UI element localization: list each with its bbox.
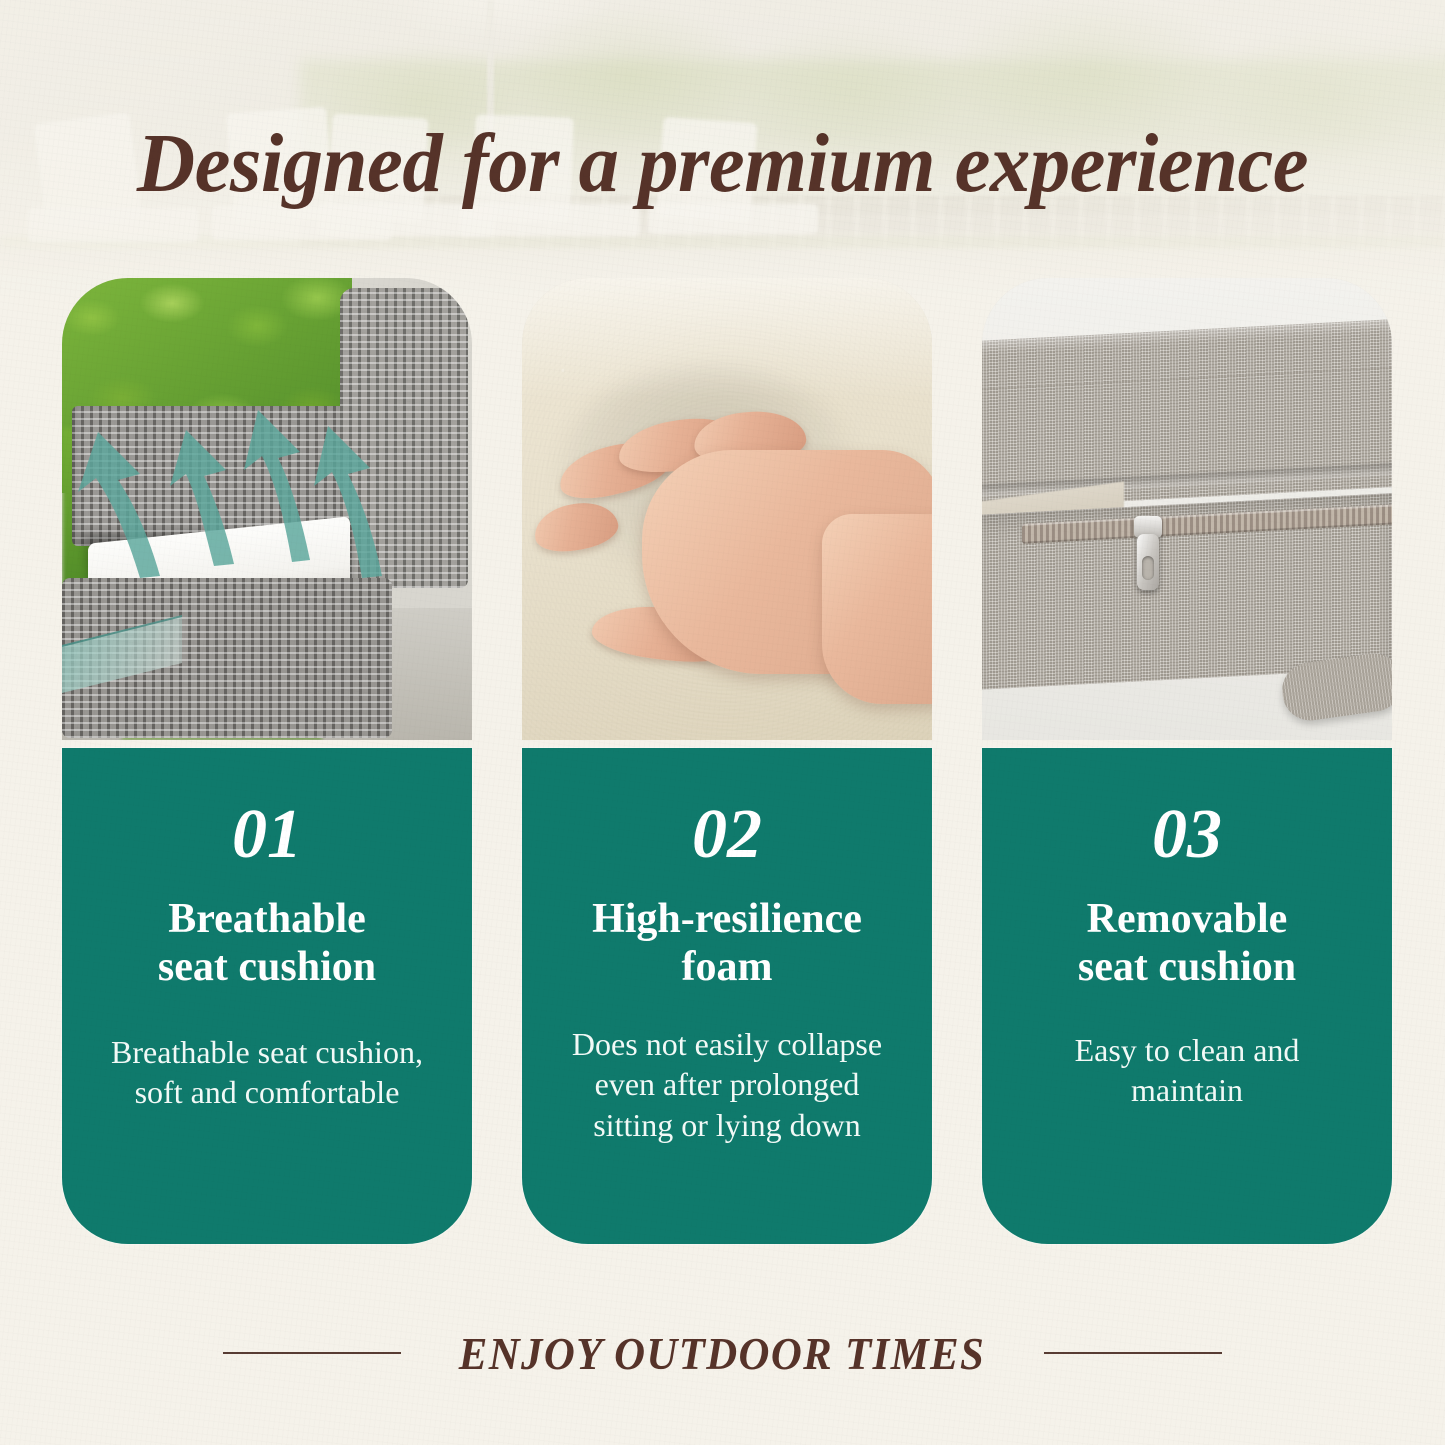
page-headline: Designed for a premium experience	[29, 115, 1416, 212]
feature-number-02: 02	[522, 800, 932, 870]
footer-rule-left	[223, 1352, 401, 1354]
photo-breathable-cushion	[62, 278, 472, 740]
feature-panel-03: 03 Removable seat cushion Easy to clean …	[982, 748, 1392, 1244]
wrist	[822, 514, 932, 704]
feature-number-03: 03	[982, 800, 1392, 870]
feature-description-02: Does not easily collapse even after prol…	[522, 1024, 932, 1145]
feature-title-01: Breathable seat cushion	[62, 896, 472, 992]
feature-card-02: 02 High-resilience foam Does not easily …	[522, 278, 932, 1244]
product-infographic-poster: Designed for a premium experience	[0, 0, 1445, 1445]
feature-title-02: High-resilience foam	[522, 896, 932, 992]
footer-tagline: ENJOY OUTDOOR TIMES	[0, 1318, 1445, 1388]
airflow-arrows-icon	[62, 278, 472, 740]
feature-card-03: 03 Removable seat cushion Easy to clean …	[982, 278, 1392, 1244]
feature-number-01: 01	[62, 800, 472, 870]
feature-panel-02: 02 High-resilience foam Does not easily …	[522, 748, 932, 1244]
feature-description-01: Breathable seat cushion, soft and comfor…	[62, 1032, 472, 1113]
feature-title-03: Removable seat cushion	[982, 896, 1392, 992]
zipper-tab-hole	[1142, 556, 1154, 580]
feature-columns: 01 Breathable seat cushion Breathable se…	[62, 278, 1392, 1244]
footer-rule-right	[1044, 1352, 1222, 1354]
feature-description-03: Easy to clean and maintain	[982, 1030, 1392, 1111]
foam-highlight	[522, 278, 932, 398]
photo-removable-cover-zipper	[982, 278, 1392, 740]
photo-high-resilience-foam	[522, 278, 932, 740]
zipper-pull-icon	[1134, 516, 1162, 590]
footer-text: ENJOY OUTDOOR TIMES	[459, 1327, 985, 1380]
feature-card-01: 01 Breathable seat cushion Breathable se…	[62, 278, 472, 1244]
feature-panel-01: 01 Breathable seat cushion Breathable se…	[62, 748, 472, 1244]
